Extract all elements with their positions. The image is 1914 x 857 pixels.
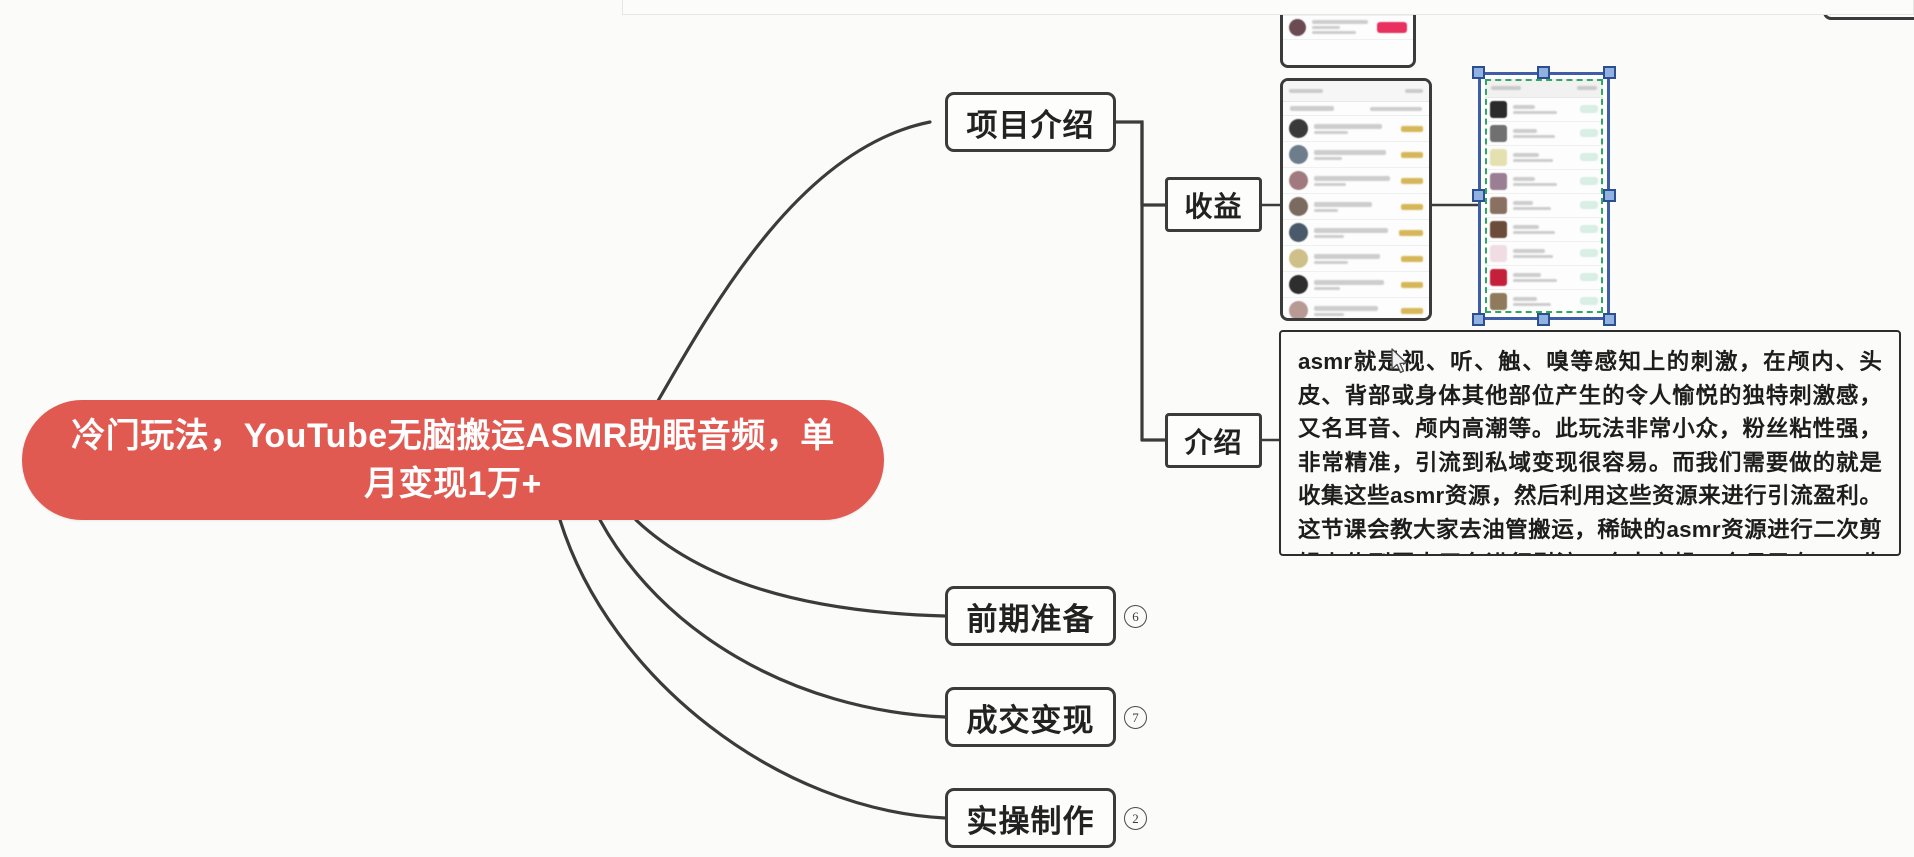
resize-handle-n[interactable] xyxy=(1537,66,1550,79)
attachment-income-list-thumb[interactable] xyxy=(1280,78,1432,321)
connector-root-project-intro xyxy=(640,122,930,432)
topic-introduction[interactable]: 介绍 xyxy=(1165,413,1262,468)
mouse-cursor xyxy=(1390,348,1410,376)
topic-introduction-label: 介绍 xyxy=(1185,421,1243,461)
list-item xyxy=(1485,290,1603,313)
list-item xyxy=(1283,16,1413,40)
viewport-top-edge-panel xyxy=(622,0,1914,15)
list-item xyxy=(1485,170,1603,194)
resize-handle-se[interactable] xyxy=(1603,313,1616,326)
list-item xyxy=(1283,194,1429,220)
list-item xyxy=(1485,242,1603,266)
list-item xyxy=(1283,168,1429,194)
resize-handle-ne[interactable] xyxy=(1603,66,1616,79)
chat-list-header xyxy=(1485,79,1603,98)
resize-handle-w[interactable] xyxy=(1472,189,1485,202)
attachment-chat-list-thumb-selected[interactable] xyxy=(1478,72,1610,320)
mindmap-canvas[interactable]: 冷门玩法，YouTube无脑搬运ASMR助眠音频，单月变现1万+ 项目介绍 前期… xyxy=(0,0,1914,857)
topic-preparation[interactable]: 前期准备 xyxy=(945,586,1116,646)
badge-preparation-count: 6 xyxy=(1132,609,1139,625)
badge-monetization[interactable]: 7 xyxy=(1124,706,1147,729)
topic-project-intro[interactable]: 项目介绍 xyxy=(945,92,1116,152)
list-item xyxy=(1485,218,1603,242)
chat-list-screenshot xyxy=(1485,79,1603,313)
resize-handle-sw[interactable] xyxy=(1472,313,1485,326)
list-item xyxy=(1283,142,1429,168)
badge-production[interactable]: 2 xyxy=(1124,807,1147,830)
note-box[interactable]: asmr就是视、听、触、嗅等感知上的刺激，在颅内、头皮、背部或身体其他部位产生的… xyxy=(1279,330,1901,556)
connector-root-production xyxy=(560,520,945,818)
income-list-screenshot xyxy=(1283,81,1429,318)
list-item xyxy=(1283,272,1429,298)
badge-production-count: 2 xyxy=(1132,811,1139,827)
resize-handle-e[interactable] xyxy=(1603,189,1616,202)
list-item xyxy=(1485,266,1603,290)
income-list-subheader xyxy=(1283,102,1429,116)
connector-root-monetization xyxy=(600,520,945,717)
topic-production-label: 实操制作 xyxy=(967,796,1095,841)
list-item xyxy=(1485,194,1603,218)
list-item xyxy=(1283,298,1429,321)
root-node[interactable]: 冷门玩法，YouTube无脑搬运ASMR助眠音频，单月变现1万+ xyxy=(22,400,884,520)
list-item xyxy=(1283,246,1429,272)
list-item xyxy=(1485,122,1603,146)
topic-income-label: 收益 xyxy=(1185,185,1243,225)
topic-income[interactable]: 收益 xyxy=(1165,177,1262,232)
list-item xyxy=(1485,146,1603,170)
note-box-text: asmr就是视、听、触、嗅等感知上的刺激，在颅内、头皮、背部或身体其他部位产生的… xyxy=(1298,345,1882,556)
income-list-header xyxy=(1283,81,1429,102)
root-node-label: 冷门玩法，YouTube无脑搬运ASMR助眠音频，单月变现1万+ xyxy=(68,412,838,509)
topic-preparation-label: 前期准备 xyxy=(967,594,1095,639)
list-item xyxy=(1283,116,1429,142)
badge-monetization-count: 7 xyxy=(1132,710,1139,726)
resize-handle-s[interactable] xyxy=(1537,313,1550,326)
topic-project-intro-label: 项目介绍 xyxy=(967,100,1095,145)
list-item xyxy=(1485,98,1603,122)
badge-preparation[interactable]: 6 xyxy=(1124,605,1147,628)
topic-monetization[interactable]: 成交变现 xyxy=(945,687,1116,747)
connector-root-preparation xyxy=(636,520,945,616)
connector-intro-trunk-top xyxy=(1116,122,1142,205)
resize-handle-nw[interactable] xyxy=(1472,66,1485,79)
topic-monetization-label: 成交变现 xyxy=(967,695,1095,740)
list-item xyxy=(1283,220,1429,246)
topic-production[interactable]: 实操制作 xyxy=(945,788,1116,848)
